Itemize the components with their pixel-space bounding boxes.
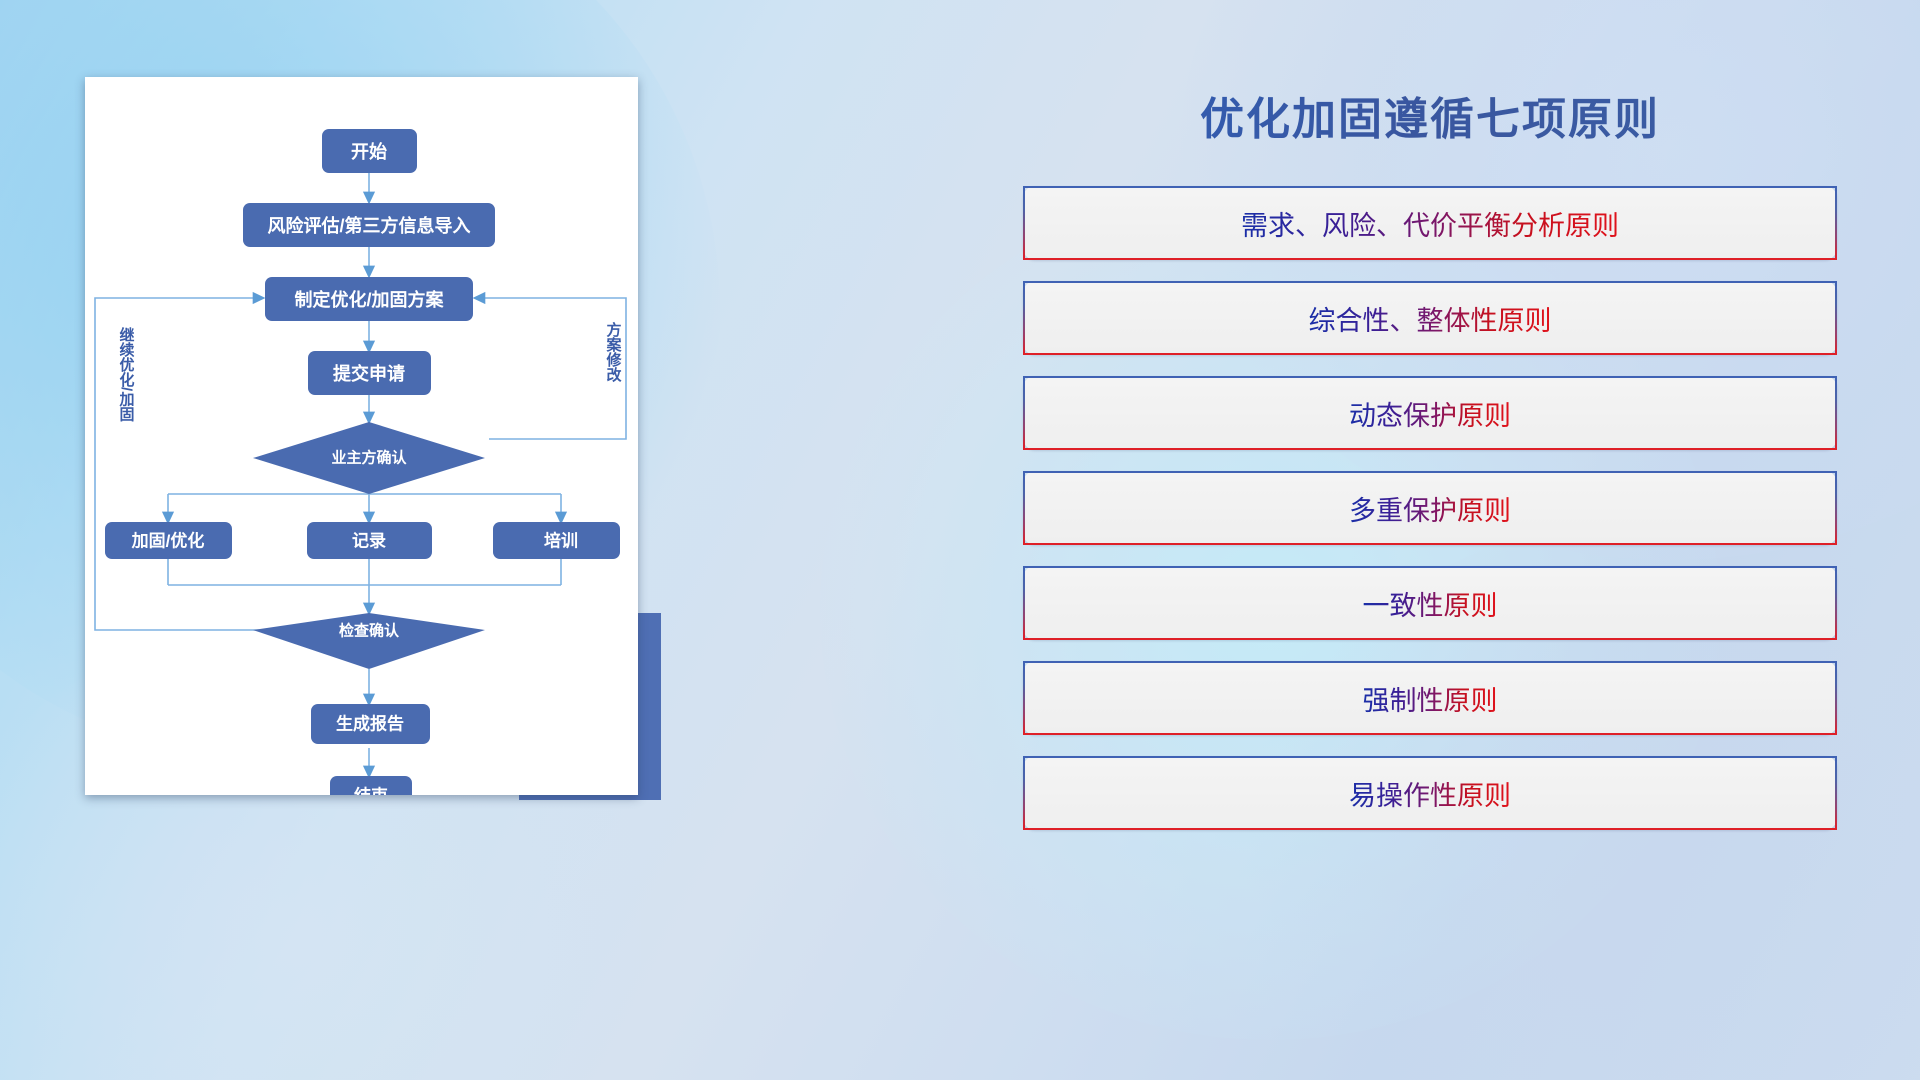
flow-node-owner-confirm: 业主方确认 <box>253 422 485 494</box>
principle-item[interactable]: 一致性原则 <box>1023 566 1837 640</box>
svg-text:检查确认: 检查确认 <box>339 622 400 640</box>
svg-text:培训: 培训 <box>544 531 578 551</box>
flow-node-report: 生成报告 <box>311 704 430 744</box>
svg-text:开始: 开始 <box>351 141 387 162</box>
flow-node-record: 记录 <box>307 522 432 559</box>
edge-label-plan-revision: 方案修改 <box>605 321 623 383</box>
flow-node-submit: 提交申请 <box>308 351 431 395</box>
svg-text:结束: 结束 <box>354 786 388 796</box>
svg-text:提交申请: 提交申请 <box>333 363 405 384</box>
principle-item[interactable]: 易操作性原则 <box>1023 756 1837 830</box>
flow-node-end: 结束 <box>330 776 412 795</box>
panel-title: 优化加固遵循七项原则 <box>1020 96 1840 144</box>
edge-label-continue-optimize: 继续优化/加固 <box>118 326 136 422</box>
flow-node-start: 开始 <box>322 129 417 173</box>
principle-item[interactable]: 综合性、整体性原则 <box>1023 281 1837 355</box>
principle-item[interactable]: 动态保护原则 <box>1023 376 1837 450</box>
principle-label: 动态保护原则 <box>1349 394 1511 433</box>
svg-text:业主方确认: 业主方确认 <box>331 449 407 467</box>
principle-label: 多重保护原则 <box>1349 489 1511 528</box>
svg-text:加固/优化: 加固/优化 <box>131 531 205 551</box>
principles-panel: 优化加固遵循七项原则 需求、风险、代价平衡分析原则 综合性、整体性原则 动态保护… <box>1020 96 1840 996</box>
principle-label: 一致性原则 <box>1363 584 1498 623</box>
flow-node-reinforce: 加固/优化 <box>105 522 232 559</box>
principle-label: 需求、风险、代价平衡分析原则 <box>1241 204 1619 243</box>
slide-canvas: 开始 风险评估/第三方信息导入 制定优化/加固方案 提交申请 业主方确认 加固/… <box>0 0 1920 1080</box>
flow-node-plan: 制定优化/加固方案 <box>265 277 473 321</box>
principle-label: 易操作性原则 <box>1349 774 1511 813</box>
principle-item[interactable]: 强制性原则 <box>1023 661 1837 735</box>
principles-list: 需求、风险、代价平衡分析原则 综合性、整体性原则 动态保护原则 多重保护原则 一… <box>1020 186 1840 830</box>
svg-text:生成报告: 生成报告 <box>336 714 404 734</box>
principle-item[interactable]: 多重保护原则 <box>1023 471 1837 545</box>
flow-node-check-confirm: 检查确认 <box>253 613 485 669</box>
principle-item[interactable]: 需求、风险、代价平衡分析原则 <box>1023 186 1837 260</box>
flow-node-training: 培训 <box>493 522 620 559</box>
principle-label: 强制性原则 <box>1363 679 1498 718</box>
flow-node-risk-assessment: 风险评估/第三方信息导入 <box>243 203 495 247</box>
principle-label: 综合性、整体性原则 <box>1309 299 1552 338</box>
svg-text:记录: 记录 <box>352 532 386 551</box>
svg-text:制定优化/加固方案: 制定优化/加固方案 <box>294 289 444 310</box>
flowchart-diagram: 开始 风险评估/第三方信息导入 制定优化/加固方案 提交申请 业主方确认 加固/… <box>85 77 638 795</box>
svg-text:风险评估/第三方信息导入: 风险评估/第三方信息导入 <box>268 215 471 236</box>
